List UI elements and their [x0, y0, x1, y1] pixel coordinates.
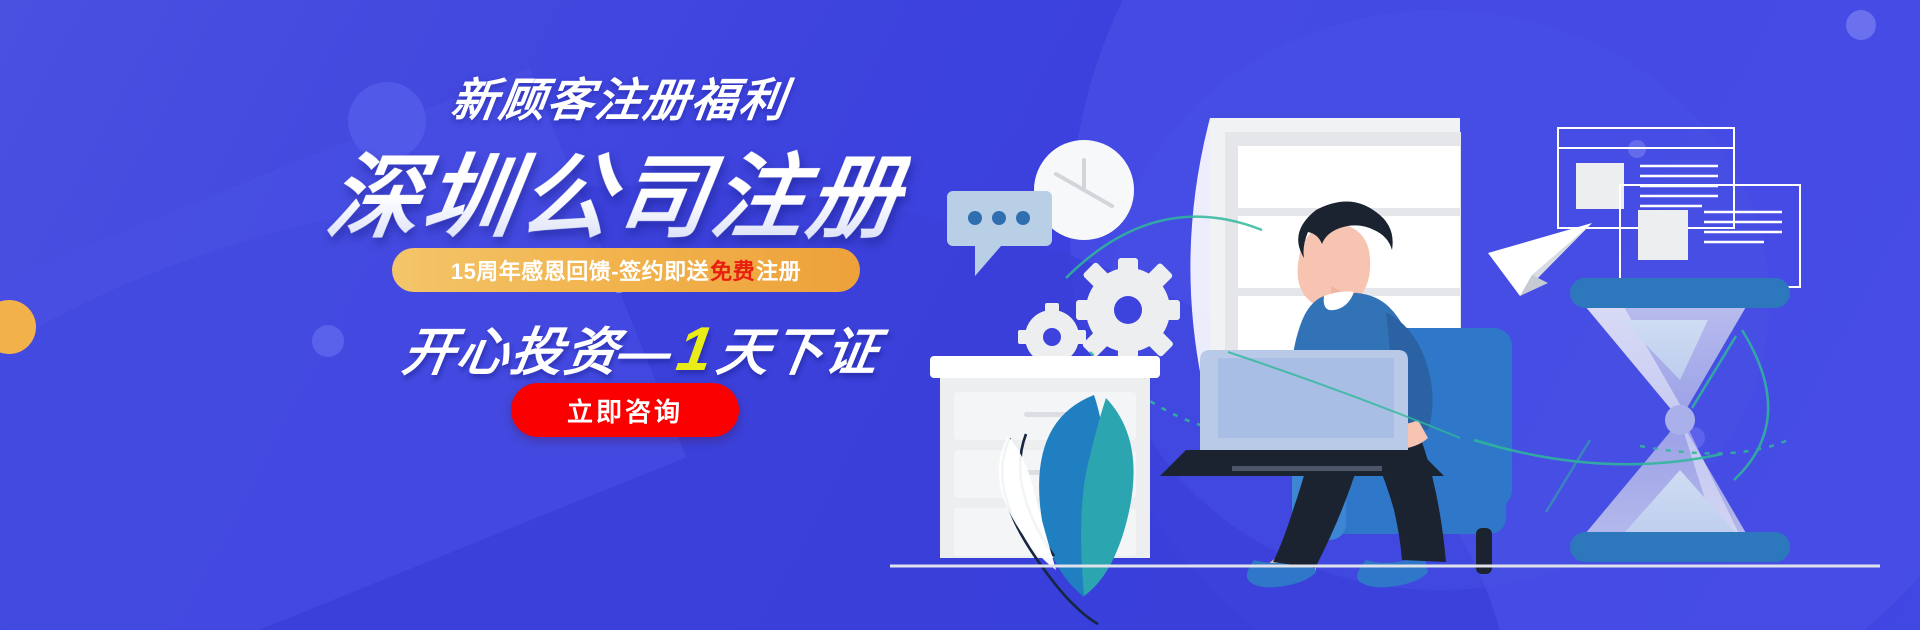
promo-banner: 新顾客注册福利 深圳公司注册 15周年感恩回馈-签约即送 免费 注册 开心投资—…	[0, 0, 1920, 630]
illustration	[880, 0, 1920, 630]
promo-pill: 15周年感恩回馈-签约即送 免费 注册	[392, 248, 860, 292]
text-content: 新顾客注册福利 深圳公司注册 15周年感恩回馈-签约即送 免费 注册 开心投资—…	[0, 0, 980, 630]
consult-now-button[interactable]: 立即咨询	[511, 383, 739, 437]
subline-suffix: 天下证	[713, 324, 884, 382]
consult-now-label: 立即咨询	[567, 392, 683, 429]
subline-text: 开心投资—1天下证	[398, 310, 886, 385]
page-title: 深圳公司注册	[319, 123, 916, 256]
promo-suffix: 注册	[756, 254, 801, 286]
kicker-text: 新顾客注册福利	[447, 64, 792, 130]
subline-prefix: 开心投资—	[399, 324, 678, 382]
promo-prefix: 15周年感恩回馈-签约即送	[451, 254, 709, 286]
gear-icon	[1076, 258, 1180, 362]
promo-highlight: 免费	[709, 254, 756, 286]
